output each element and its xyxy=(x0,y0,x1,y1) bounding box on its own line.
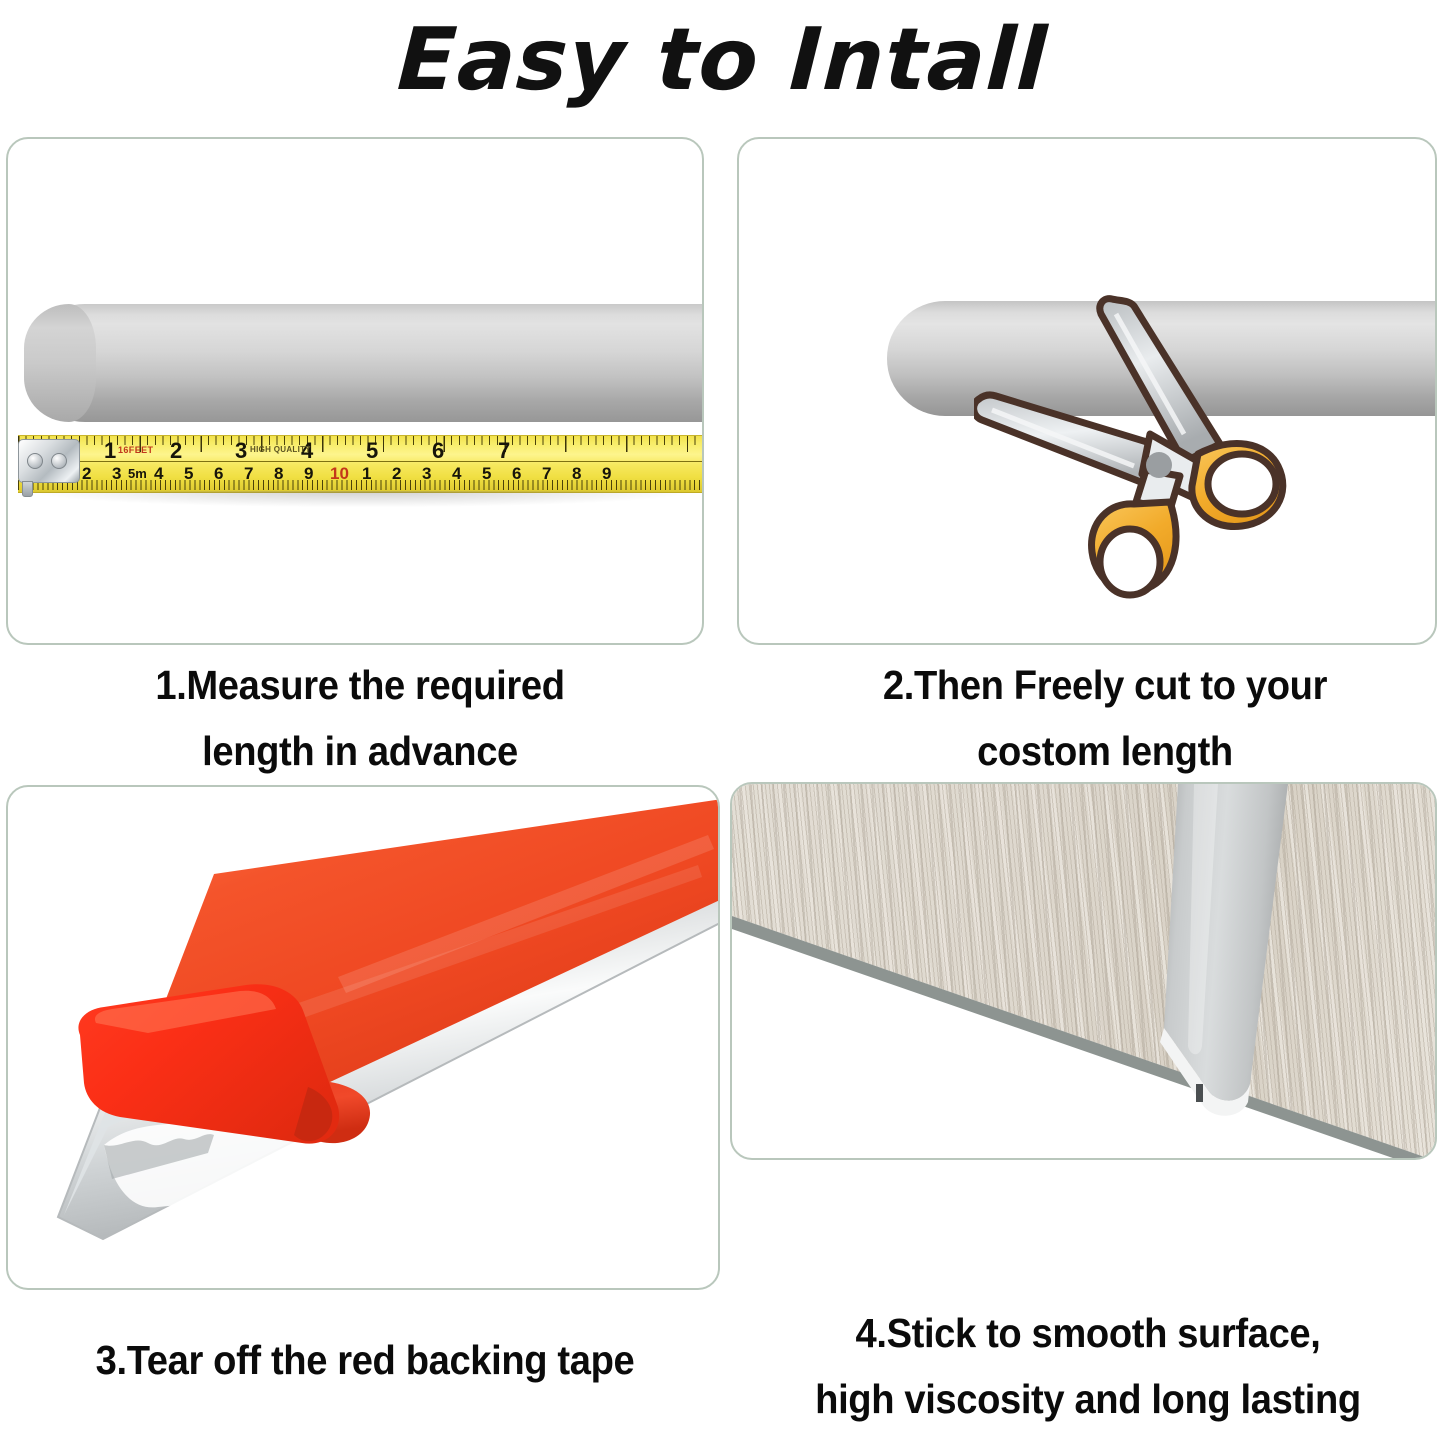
caption-line: 1.Measure the required xyxy=(62,652,657,718)
tape-quality-text: HIGH QUALITY xyxy=(250,445,311,454)
tape-inch-label: 3 xyxy=(235,440,247,462)
tape-cm-label: 3 xyxy=(422,465,431,482)
tape-cm-label: 8 xyxy=(572,465,581,482)
tape-inch-label: 5 xyxy=(366,440,378,462)
step-2-caption: 2.Then Freely cut to your costom length xyxy=(798,652,1412,785)
tape-cm-label: 4 xyxy=(154,465,163,482)
page-title: Easy to Intall xyxy=(0,0,1445,120)
tape-cm-label: 8 xyxy=(274,465,283,482)
strip-seam-mark xyxy=(1196,1084,1203,1102)
tape-cm-label: 4 xyxy=(452,465,461,482)
step-4-caption: 4.Stick to smooth surface, high viscosit… xyxy=(760,1300,1417,1433)
tape-cm-label: 2 xyxy=(82,465,91,482)
tape-cm-label: 2 xyxy=(392,465,401,482)
caption-line: 2.Then Freely cut to your xyxy=(798,652,1412,718)
gray-pipe-illustration xyxy=(25,304,704,422)
tape-inch-label: 1 xyxy=(104,440,116,462)
tape-center-line xyxy=(18,461,704,462)
scissors-pivot-screw xyxy=(1146,452,1172,478)
tape-inch-label: 6 xyxy=(432,440,444,462)
tape-cm-label: 1 xyxy=(362,465,371,482)
caption-line: high viscosity and long lasting xyxy=(760,1366,1417,1432)
tape-inch-label: 7 xyxy=(498,440,510,462)
tape-measure-illustration: 1 2 3 4 5 6 7 16FEET HIGH QUALITY 2 3 5m… xyxy=(18,435,704,491)
tape-cm-label: 7 xyxy=(244,465,253,482)
tape-cm-label: 7 xyxy=(542,465,551,482)
tape-inch-label: 2 xyxy=(170,440,182,462)
gray-transition-strip xyxy=(1164,784,1288,1101)
transition-strip-overlay xyxy=(732,784,1437,1160)
step-panel-3 xyxy=(6,785,720,1290)
step-3-caption: 3.Tear off the red backing tape xyxy=(35,1327,695,1393)
tape-cm-label: 9 xyxy=(304,465,313,482)
tape-cm-label-highlight: 10 xyxy=(330,465,349,482)
caption-line: costom length xyxy=(798,718,1412,784)
tape-cm-label: 5 xyxy=(482,465,491,482)
step-panel-4 xyxy=(730,782,1437,1160)
tape-metric-label: 5m xyxy=(128,466,147,481)
caption-line: 4.Stick to smooth surface, xyxy=(760,1300,1417,1366)
caption-line: 3.Tear off the red backing tape xyxy=(35,1327,695,1393)
caption-line: length in advance xyxy=(62,718,657,784)
tape-shadow xyxy=(32,491,692,507)
step-panel-2 xyxy=(737,137,1437,645)
step-1-caption: 1.Measure the required length in advance xyxy=(62,652,657,785)
step-panel-1: 1 2 3 4 5 6 7 16FEET HIGH QUALITY 2 3 5m… xyxy=(6,137,704,645)
floor-strip-illustration xyxy=(732,784,1437,1160)
tape-cm-label: 6 xyxy=(214,465,223,482)
tape-metal-hook xyxy=(18,439,80,483)
tape-cm-label: 9 xyxy=(602,465,611,482)
scissors-ring-bottom xyxy=(1100,529,1160,595)
scissors-icon xyxy=(974,294,1324,624)
tape-cm-label: 3 xyxy=(112,465,121,482)
backing-tape-peel-illustration xyxy=(8,787,720,1290)
scissors-ring-right xyxy=(1208,454,1276,514)
tape-cm-label: 6 xyxy=(512,465,521,482)
tape-brand-text: 16FEET xyxy=(118,445,153,455)
tape-cm-label: 5 xyxy=(184,465,193,482)
